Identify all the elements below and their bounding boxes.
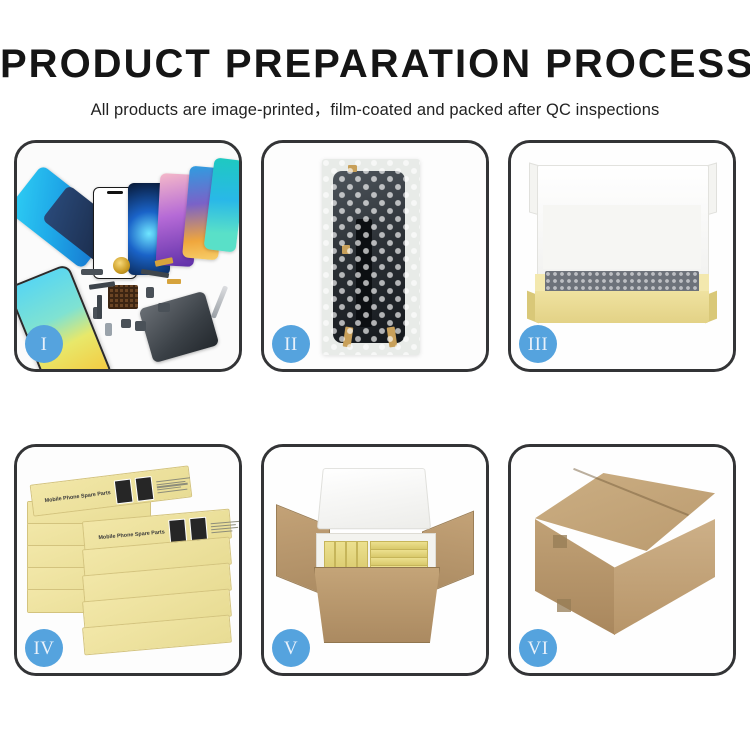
coil-part-icon xyxy=(113,257,130,274)
panel-step-6: VI xyxy=(508,444,736,676)
box-stack-group: Mobile Phone Spare Parts Mobile Phon xyxy=(25,461,233,661)
foam-lid-icon xyxy=(317,468,431,529)
header: PRODUCT PREPARATION PROCESS All products… xyxy=(0,0,750,120)
flex-cable-icon xyxy=(97,295,102,319)
step-badge-6: VI xyxy=(519,629,557,667)
small-part-icon xyxy=(121,319,131,328)
step-badge-2: II xyxy=(272,325,310,363)
bubble-wrapped-contents-icon xyxy=(545,271,699,293)
open-inner-box-photo: III xyxy=(511,143,733,369)
small-part-icon xyxy=(81,269,103,275)
carton-tape-icon xyxy=(557,599,571,612)
chip-grid-icon xyxy=(108,285,138,309)
gold-connector-icon xyxy=(167,279,181,284)
phone-parts-photo: I xyxy=(17,143,239,369)
step-badge-5: V xyxy=(272,629,310,667)
panel-step-4: Mobile Phone Spare Parts Mobile Phon xyxy=(14,444,242,676)
box-label-text: Mobile Phone Spare Parts xyxy=(44,490,111,504)
stacked-boxes-photo: Mobile Phone Spare Parts Mobile Phon xyxy=(17,447,239,673)
small-part-icon xyxy=(158,303,170,312)
panel-step-2: II xyxy=(261,140,489,372)
process-steps-grid: I II xyxy=(14,140,736,680)
foam-sheet-icon xyxy=(543,205,701,269)
foam-carton-photo: V xyxy=(264,447,486,673)
small-part-icon xyxy=(135,321,146,331)
page-subtitle: All products are image-printed，film-coat… xyxy=(0,96,750,120)
product-photo-icon xyxy=(134,476,154,502)
sealed-carton-photo: VI xyxy=(511,447,733,673)
tray-front-icon xyxy=(535,291,709,323)
small-part-icon xyxy=(105,323,112,336)
bubble-wrap-photo: II xyxy=(264,143,486,369)
page-title: PRODUCT PREPARATION PROCESS xyxy=(0,43,750,85)
step-badge-4: IV xyxy=(25,629,63,667)
box-label-text: Mobile Phone Spare Parts xyxy=(98,529,165,541)
bubble-texture xyxy=(322,159,420,355)
notch-icon xyxy=(107,191,123,194)
small-part-icon xyxy=(146,287,154,298)
label-spec-lines xyxy=(210,521,239,533)
carton-tape-icon xyxy=(553,535,567,548)
product-photo-icon xyxy=(113,479,133,505)
product-preparation-infographic: PRODUCT PREPARATION PROCESS All products… xyxy=(0,0,750,750)
panel-step-5: V xyxy=(261,444,489,676)
panel-step-1: I xyxy=(14,140,242,372)
bubble-bag-icon xyxy=(322,159,420,355)
panel-step-3: III xyxy=(508,140,736,372)
step-badge-3: III xyxy=(519,325,557,363)
label-spec-lines xyxy=(156,477,191,493)
step-badge-1: I xyxy=(25,325,63,363)
carton-body-icon xyxy=(314,567,440,643)
